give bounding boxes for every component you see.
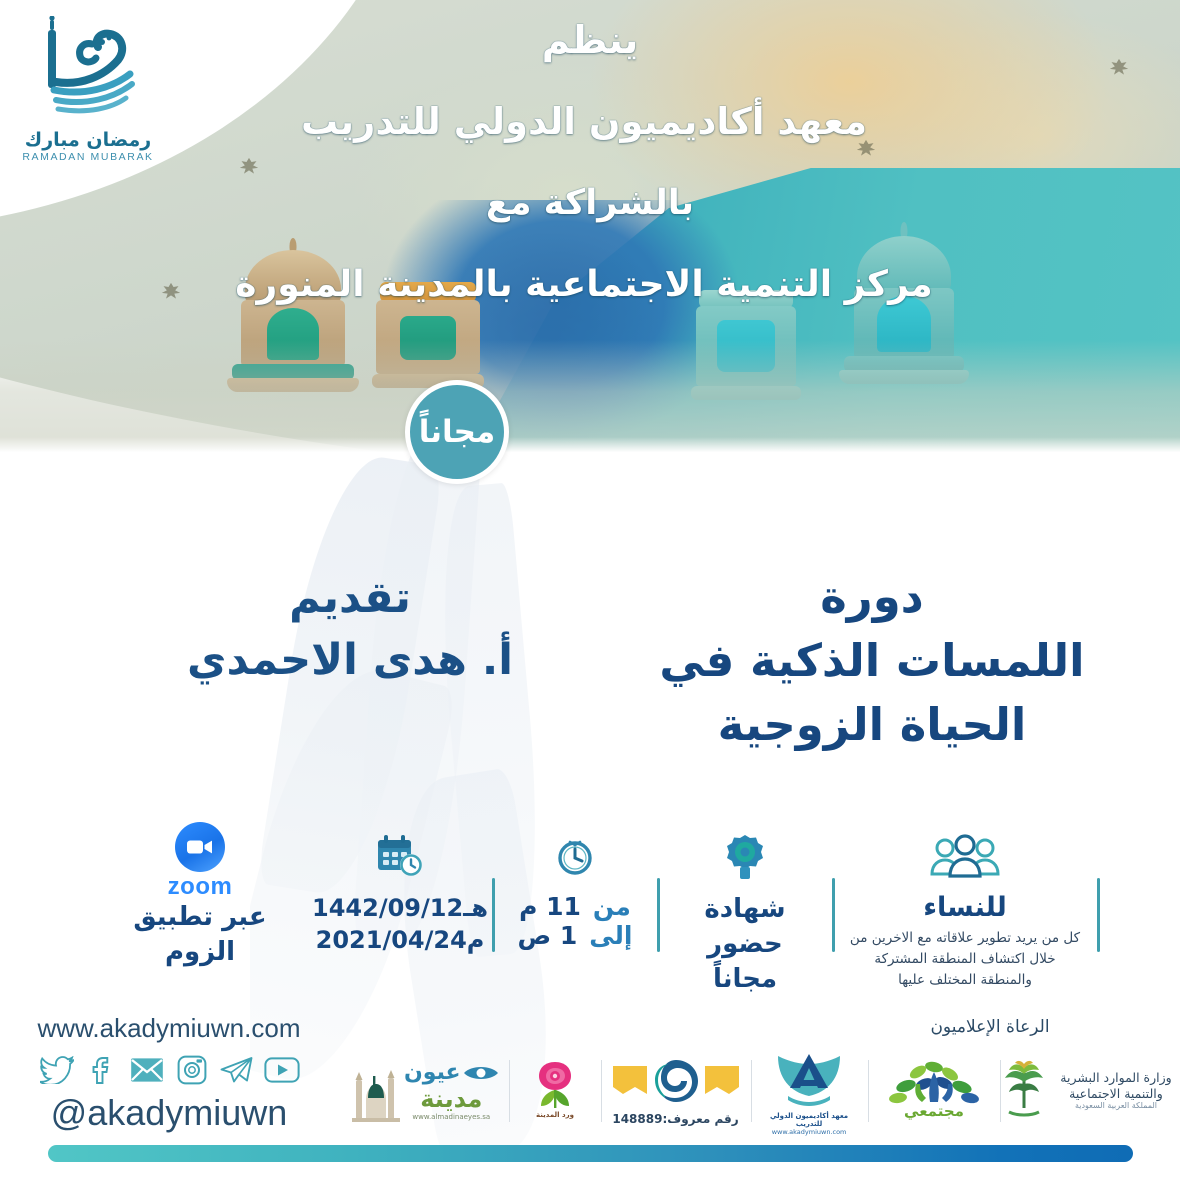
presenter-block: تقديم أ. هدى الاحمدي: [150, 567, 550, 692]
time-from-label: من: [593, 892, 631, 921]
info-date: 1442/09/12هـ 2021/04/24م: [308, 830, 493, 957]
zoom-wordmark: zoom: [168, 873, 233, 901]
header-line-center: مركز التنمية الاجتماعية بالمدينة المنورة: [224, 264, 944, 305]
info-time: من 11 م إلى 1 ص: [493, 830, 658, 950]
audience-title: للنساء: [923, 892, 1007, 923]
time-to-label: إلى: [589, 921, 632, 950]
saudi-palm-icon: [1001, 1060, 1047, 1122]
institute-a-icon: [766, 1046, 852, 1108]
almadinaeyes-caption: www.almadinaeyes.sa: [404, 1113, 499, 1121]
institute-site: www.akadymiuwn.com: [761, 1128, 858, 1136]
sponsors-title: الرعاة الإعلاميون: [800, 1017, 1180, 1037]
time-to-value: 1 ص: [518, 921, 578, 950]
course-title-line-1: اللمسات الذكية في: [652, 629, 1092, 693]
ministry-name: وزارة الموارد البشرية والتنمية الاجتماعي…: [1053, 1070, 1178, 1101]
mojtamai-logo: مجتمعي: [868, 1048, 1000, 1134]
social-handle[interactable]: @akadymiuwn: [14, 1092, 324, 1134]
telegram-icon[interactable]: [219, 1052, 255, 1088]
contact-block: www.akadymiuwn.com: [14, 1013, 324, 1134]
logo-latin-text: RAMADAN MUBARAK: [18, 151, 158, 163]
mosque-icon: [350, 1058, 402, 1124]
time-from-value: 11 م: [519, 892, 581, 921]
ramadan-mubarak-logo: رمضان مبارك RAMADAN MUBARAK: [18, 16, 158, 166]
info-certificate: شهادة حضور مجاناً: [658, 830, 833, 997]
svg-text:ورد المدينة: ورد المدينة: [536, 1111, 574, 1119]
maroof-number: رقم معروف:148889: [611, 1112, 741, 1126]
footer: www.akadymiuwn.com: [0, 1005, 1180, 1180]
logo-arabic-text: رمضان مبارك: [18, 129, 158, 151]
free-badge-label: مجاناً: [419, 417, 495, 448]
ward-almadina-logo: ورد المدينة: [509, 1048, 601, 1134]
free-badge: مجاناً: [405, 380, 509, 484]
bottom-accent-bar: [48, 1145, 1133, 1162]
social-links: [14, 1052, 324, 1088]
email-icon[interactable]: [129, 1052, 165, 1088]
info-platform: zoom عبر تطبيق الزوم: [93, 830, 308, 970]
youtube-icon[interactable]: [264, 1052, 300, 1088]
course-title-block: دورة اللمسات الذكية في الحياة الزوجية: [652, 565, 1092, 757]
date-hijri: 1442/09/12هـ: [312, 892, 488, 924]
info-audience: للنساء كل من يريد تطوير علاقاته مع الاخر…: [833, 830, 1098, 991]
video-camera-icon: [186, 838, 214, 856]
header-banner: ينظم معهد أكاديميون الدولي للتدريب بالشر…: [0, 0, 1180, 455]
maroof-badge-icon: [611, 1056, 741, 1112]
website-url[interactable]: www.akadymiuwn.com: [14, 1013, 324, 1044]
award-badge-icon: [723, 830, 767, 884]
community-tree-icon: مجتمعي: [878, 1058, 990, 1120]
event-poster: ينظم معهد أكاديميون الدولي للتدريب بالشر…: [0, 0, 1180, 1180]
header-line-organizes: ينظم: [450, 18, 730, 62]
course-title-line-2: الحياة الزوجية: [652, 693, 1092, 757]
platform-text: عبر تطبيق الزوم: [109, 900, 292, 970]
ministry-country: المملكة العربية السعودية: [1053, 1101, 1178, 1111]
presenter-label: تقديم: [150, 567, 550, 629]
eye-icon: [463, 1063, 499, 1083]
ramadan-calligraphy-icon: [26, 16, 151, 124]
instagram-icon[interactable]: [174, 1052, 210, 1088]
header-line-partnership: بالشراكة مع: [440, 183, 740, 223]
certificate-line-1: شهادة حضور: [674, 892, 817, 962]
sponsors-block: الرعاة الإعلاميون: [340, 1017, 1180, 1138]
audience-description: كل من يريد تطوير علاقاته مع الاخرين من خ…: [849, 928, 1082, 991]
zoom-icon: zoom: [168, 830, 233, 892]
time-from: من 11 م: [519, 892, 631, 921]
sponsor-logos: عيون مدينة www.almadinaeyes.sa: [340, 1043, 1180, 1138]
course-kicker: دورة: [652, 565, 1092, 629]
presenter-name: أ. هدى الاحمدي: [150, 629, 550, 691]
maroof-logo: رقم معروف:148889: [601, 1048, 751, 1134]
main-content: دورة اللمسات الذكية في الحياة الزوجية تق…: [0, 455, 1180, 1015]
calendar-clock-icon: [375, 830, 425, 884]
clock-icon: [553, 830, 597, 884]
certificate-line-2: مجاناً: [713, 962, 777, 997]
institute-name: معهد أكاديميون الدولي للتدريب: [761, 1112, 858, 1128]
ministry-hrsd-logo: وزارة الموارد البشرية والتنمية الاجتماعي…: [1000, 1048, 1180, 1134]
rose-flower-icon: ورد المدينة: [523, 1058, 587, 1120]
time-to: إلى 1 ص: [518, 921, 633, 950]
akadymiuwn-institute-logo: معهد أكاديميون الدولي للتدريب www.akadym…: [751, 1048, 868, 1134]
info-row: zoom عبر تطبيق الزوم: [70, 830, 1120, 990]
header-line-institute: معهد أكاديميون الدولي للتدريب: [274, 100, 894, 143]
date-gregorian: 2021/04/24م: [316, 924, 485, 956]
facebook-icon[interactable]: [84, 1052, 120, 1088]
twitter-icon[interactable]: [39, 1052, 75, 1088]
svg-text:مجتمعي: مجتمعي: [904, 1102, 964, 1120]
almadinaeyes-logo: عيون مدينة www.almadinaeyes.sa: [340, 1048, 509, 1134]
people-group-icon: [929, 830, 1001, 884]
